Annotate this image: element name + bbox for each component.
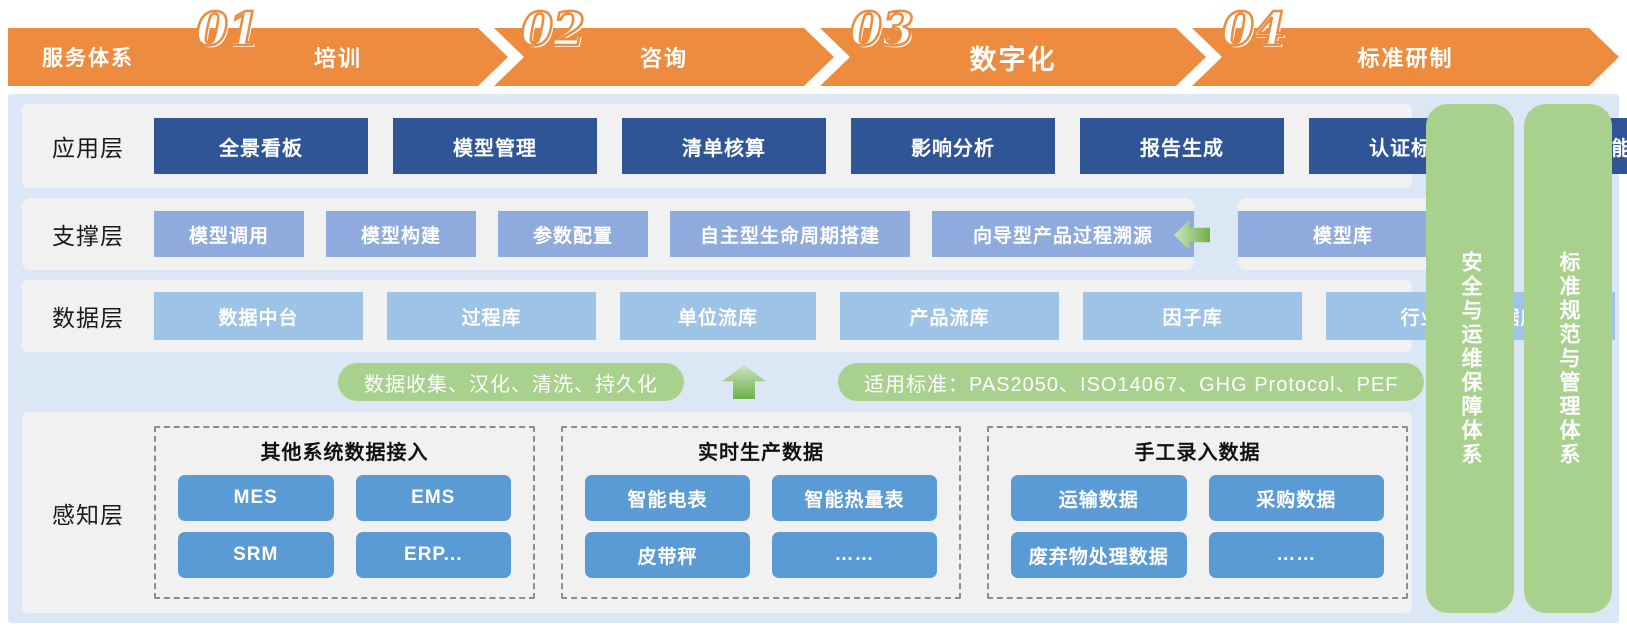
layer-data: 数据层 数据中台 过程库 单位流库 产品流库 因子库 行业主流数据库: [22, 280, 1412, 352]
architecture-panel: 应用层 全景看板 模型管理 清单核算 影响分析 报告生成 认证标识 智能碳助手 …: [8, 94, 1619, 623]
sense-item-1-0[interactable]: 智能电表: [585, 475, 750, 521]
sense-item-0-0[interactable]: MES: [178, 475, 334, 521]
side-panel-security[interactable]: 安全与运维保障体系: [1426, 104, 1514, 613]
sense-item-0-1[interactable]: EMS: [356, 475, 512, 521]
support-item-2[interactable]: 参数配置: [498, 211, 648, 257]
app-item-1[interactable]: 模型管理: [393, 118, 597, 174]
layer-application-label: 应用层: [22, 129, 154, 163]
data-item-4[interactable]: 因子库: [1083, 292, 1302, 340]
data-items: 数据中台 过程库 单位流库 产品流库 因子库 行业主流数据库: [154, 292, 1615, 340]
sense-item-2-1[interactable]: 采购数据: [1209, 475, 1385, 521]
sense-item-1-2[interactable]: 皮带秤: [585, 532, 750, 578]
sense-group-0-title: 其他系统数据接入: [261, 436, 429, 465]
sense-item-1-1[interactable]: 智能热量表: [772, 475, 937, 521]
support-item-1[interactable]: 模型构建: [326, 211, 476, 257]
sense-group-1-items: 智能电表 智能热量表 皮带秤 ……: [563, 475, 959, 578]
sense-group-0-items: MES EMS SRM ERP...: [156, 475, 533, 578]
sense-item-2-2[interactable]: 废弃物处理数据: [1011, 532, 1187, 578]
sense-group-1-title: 实时生产数据: [698, 436, 824, 465]
layer-sense-label: 感知层: [22, 496, 154, 530]
support-item-3[interactable]: 自主型生命周期搭建: [670, 211, 910, 257]
banner-step-4-label: 标准研制: [1357, 41, 1453, 73]
banner-system-label: 服务体系: [8, 28, 168, 86]
sense-group-2: 手工录入数据 运输数据 采购数据 废弃物处理数据 ……: [987, 426, 1408, 599]
app-item-0[interactable]: 全景看板: [154, 118, 368, 174]
support-group-side: 模型库: [1238, 198, 1448, 270]
sense-group-0: 其他系统数据接入 MES EMS SRM ERP...: [154, 426, 535, 599]
sense-item-2-3[interactable]: ……: [1209, 532, 1385, 578]
sense-group-1: 实时生产数据 智能电表 智能热量表 皮带秤 ……: [561, 426, 961, 599]
banner-step-1-number: 01: [196, 2, 260, 56]
app-item-2[interactable]: 清单核算: [622, 118, 826, 174]
side-panel-standards[interactable]: 标准规范与管理体系: [1524, 104, 1612, 613]
pill-standards: 适用标准：PAS2050、ISO14067、GHG Protocol、PEF: [838, 363, 1424, 401]
sense-item-0-3[interactable]: ERP...: [356, 532, 512, 578]
data-item-0[interactable]: 数据中台: [154, 292, 363, 340]
banner-step-1-label: 培训: [314, 41, 362, 73]
support-side-item-0[interactable]: 模型库: [1238, 211, 1448, 257]
layer-support-label: 支撑层: [22, 217, 154, 251]
layer-sense: 感知层 其他系统数据接入 MES EMS SRM ERP... 实时生产数据: [22, 412, 1412, 613]
support-item-0[interactable]: 模型调用: [154, 211, 304, 257]
banner-system-label-text: 服务体系: [42, 42, 134, 72]
sense-item-1-3[interactable]: ……: [772, 532, 937, 578]
application-items: 全景看板 模型管理 清单核算 影响分析 报告生成 认证标识 智能碳助手: [154, 118, 1627, 174]
diagram-root: 服务体系 培训 01 咨询 02 数字化 03 标准研制 04: [0, 0, 1627, 631]
app-item-4[interactable]: 报告生成: [1080, 118, 1284, 174]
banner-step-3-number: 03: [850, 2, 914, 56]
banner-step-2-number: 02: [521, 2, 585, 56]
side-panel-security-label: 安全与运维保障体系: [1455, 251, 1485, 467]
sense-groups: 其他系统数据接入 MES EMS SRM ERP... 实时生产数据 智能电表 …: [154, 426, 1412, 599]
middle-annotations: 数据收集、汉化、清洗、持久化 适用标准：PAS2050、ISO14067、GHG…: [22, 360, 1412, 404]
banner-step-3-label: 数字化: [970, 38, 1057, 77]
layers-column: 应用层 全景看板 模型管理 清单核算 影响分析 报告生成 认证标识 智能碳助手 …: [22, 104, 1412, 613]
layer-application: 应用层 全景看板 模型管理 清单核算 影响分析 报告生成 认证标识 智能碳助手: [22, 104, 1412, 188]
support-item-4[interactable]: 向导型产品过程溯源: [932, 211, 1194, 257]
data-item-2[interactable]: 单位流库: [620, 292, 816, 340]
side-panels: 安全与运维保障体系 标准规范与管理体系: [1426, 104, 1612, 613]
side-panel-standards-label: 标准规范与管理体系: [1553, 251, 1583, 467]
app-item-3[interactable]: 影响分析: [851, 118, 1055, 174]
data-item-3[interactable]: 产品流库: [840, 292, 1059, 340]
sense-group-2-items: 运输数据 采购数据 废弃物处理数据 ……: [989, 475, 1406, 578]
pill-data-processing: 数据收集、汉化、清洗、持久化: [338, 363, 684, 401]
data-item-1[interactable]: 过程库: [387, 292, 596, 340]
support-items: 模型调用 模型构建 参数配置 自主型生命周期搭建 向导型产品过程溯源: [154, 211, 1194, 257]
sense-item-2-0[interactable]: 运输数据: [1011, 475, 1187, 521]
sense-item-0-2[interactable]: SRM: [178, 532, 334, 578]
layer-data-label: 数据层: [22, 299, 154, 333]
banner-step-4-number: 04: [1222, 2, 1286, 56]
arrow-up-green-icon: [722, 365, 766, 399]
support-group-main: 支撑层 模型调用 模型构建 参数配置 自主型生命周期搭建 向导型产品过程溯源: [22, 198, 1194, 270]
banner-step-2-label: 咨询: [640, 41, 688, 73]
sense-group-2-title: 手工录入数据: [1135, 436, 1261, 465]
process-banner: 服务体系 培训 01 咨询 02 数字化 03 标准研制 04: [0, 28, 1627, 86]
